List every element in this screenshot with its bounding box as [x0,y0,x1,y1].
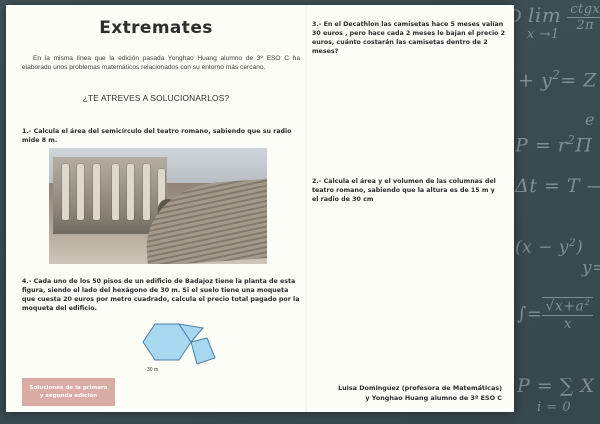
chalk-formula-sum: P = ∑ X [517,375,594,397]
figure-side-label: 30 m [147,367,158,373]
magazine-page: Extremates En la misma línea que la edic… [6,5,514,412]
signature-line-1: Luisa Dominguez (profesora de Matemática… [316,384,502,394]
chalk-formula-e: e [585,110,595,129]
page-column-right: 3.- En el Decathlon las camisetas hace 5… [306,5,514,412]
chalk-formula-ysquared: + y2= Z [518,68,597,91]
page-title: Extremates [6,18,306,38]
signature-line-2: y Yonghao Huang alumno de 3º ESO C [316,394,502,404]
problem-1-text: 1.- Calcula el área del semicírculo del … [22,127,304,145]
chalk-formula-limit-sub: x →1 [527,27,560,42]
chalk-formula-area-circle: P = r2Π [515,133,592,156]
chalk-formula-integral: ∫=√x+a2x [517,297,593,332]
photo-roman-theatre [49,148,267,264]
call-to-action-heading: ¿TE ATREVES A SOLUCIONARLOS? [6,93,306,103]
intro-paragraph: En la misma línea que la edición pasada … [22,54,300,73]
chalk-formula-sum-index: i = 0 [537,400,571,415]
chalk-formula-binomial: (x − y2) [515,237,583,258]
chalk-formula-y-equals: y= [582,258,600,278]
solutions-button[interactable]: Soluciones de la primera y segunda edici… [22,378,115,406]
problem-3-text: 3.- En el Decathlon las camisetas hace 5… [312,20,508,56]
problem-4-text: 4.- Cada uno de los 50 pisos de un edifi… [22,277,300,313]
page-column-left: Extremates En la misma línea que la edic… [6,5,306,412]
problem-2-text: 2.- Calcula el área y el volumen de las … [312,177,502,204]
signature-block: Luisa Dominguez (profesora de Matemática… [316,384,502,403]
chalk-formula-delta-t: Δt = T — [515,175,600,197]
